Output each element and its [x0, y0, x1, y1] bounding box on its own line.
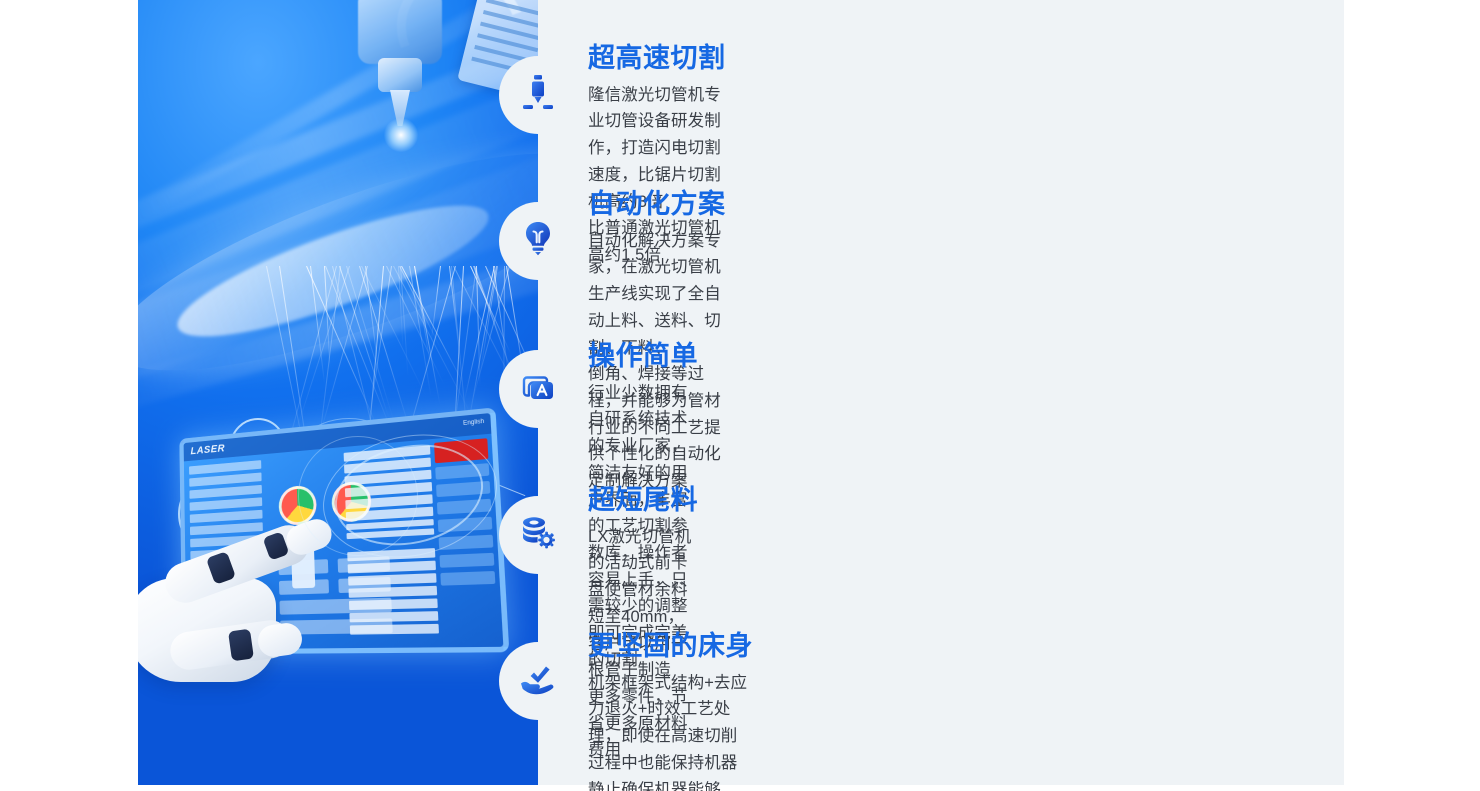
laser-cutting-head-icon [521, 75, 555, 116]
feature-title: 操作简单 [588, 342, 698, 372]
database-gear-icon [520, 516, 556, 555]
lightbulb-icon [521, 221, 555, 262]
feature-icon-badge [499, 350, 577, 428]
hmi-scene: LASER English [138, 400, 538, 785]
laser-cutting-head [350, 0, 450, 140]
feature-icon-badge [499, 496, 577, 574]
feature-description: 机架框架式结构+去应力退火+时效工艺处理，即使在高速切削过程中也能保持机器静止确… [588, 670, 753, 791]
hud-ring [298, 436, 418, 556]
feature-title: 自动化方案 [588, 190, 726, 220]
feature-icon-badge [499, 56, 577, 134]
hand-check-icon [519, 663, 557, 700]
letter-a-card-icon [520, 370, 556, 409]
product-hero-image: LASER English [138, 0, 538, 785]
feature-description-line: 静止确保机器能够24X7不间断地工作，性能稳定 [588, 777, 753, 791]
page-root: LASER English [0, 0, 1480, 791]
feature-title: 超高速切割 [588, 44, 726, 74]
feature-icon-badge [499, 642, 577, 720]
feature-title: 超短尾料 [588, 486, 698, 516]
feature-text-block: 更坚固的床身机架框架式结构+去应力退火+时效工艺处理，即使在高速切削过程中也能保… [588, 632, 753, 791]
feature-description-line: 机架框架式结构+去应力退火+时效工艺处理，即使在高速切削过程中也能保持机器 [588, 670, 753, 777]
feature-title: 更坚固的床身 [588, 632, 753, 662]
feature-icon-badge [499, 202, 577, 280]
